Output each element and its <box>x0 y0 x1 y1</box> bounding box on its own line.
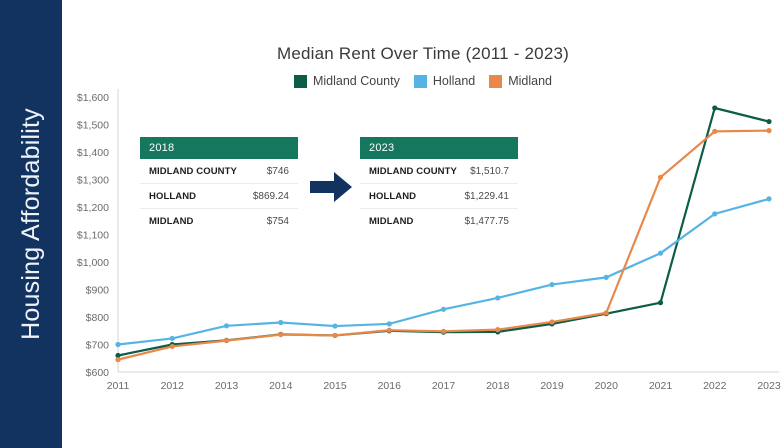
y-axis-tick-label: $1,100 <box>77 230 109 242</box>
data-point-marker[interactable] <box>712 211 717 216</box>
data-point-marker[interactable] <box>604 275 609 280</box>
data-point-marker[interactable] <box>766 119 771 124</box>
side-banner: Housing Affordability <box>0 0 62 448</box>
data-point-marker[interactable] <box>278 320 283 325</box>
data-point-marker[interactable] <box>766 196 771 201</box>
x-axis-tick-label: 2020 <box>595 380 619 392</box>
data-point-marker[interactable] <box>387 328 392 333</box>
y-axis-tick-label: $800 <box>86 312 110 324</box>
callout-row-value: $1,477.75 <box>465 216 510 227</box>
y-axis-tick-label: $1,200 <box>77 202 109 214</box>
data-point-marker[interactable] <box>766 128 771 133</box>
callout-row-value: $1,510.7 <box>470 166 509 177</box>
callout-row-label: MIDLAND <box>149 216 194 227</box>
callout-row: MIDLAND COUNTY$746 <box>140 159 298 184</box>
x-axis-tick-label: 2012 <box>161 380 185 392</box>
data-point-marker[interactable] <box>387 321 392 326</box>
data-point-marker[interactable] <box>549 282 554 287</box>
callout-year-header: 2023 <box>360 137 518 159</box>
data-point-marker[interactable] <box>170 336 175 341</box>
data-point-marker[interactable] <box>658 251 663 256</box>
data-point-marker[interactable] <box>495 295 500 300</box>
data-point-marker[interactable] <box>224 338 229 343</box>
x-axis-tick-label: 2022 <box>703 380 727 392</box>
callout-row: MIDLAND$1,477.75 <box>360 209 518 233</box>
x-axis-tick-label: 2021 <box>649 380 673 392</box>
callout-row: HOLLAND$869.24 <box>140 184 298 209</box>
callout-row-label: MIDLAND <box>369 216 414 227</box>
data-point-marker[interactable] <box>115 342 120 347</box>
callout-row-value: $869.24 <box>253 191 289 202</box>
callout-row: MIDLAND COUNTY$1,510.7 <box>360 159 518 184</box>
x-axis-tick-label: 2014 <box>269 380 293 392</box>
callout-row-label: HOLLAND <box>149 191 196 202</box>
y-axis-tick-label: $1,300 <box>77 175 109 187</box>
data-point-marker[interactable] <box>278 332 283 337</box>
y-axis-tick-label: $700 <box>86 340 110 352</box>
data-point-marker[interactable] <box>495 327 500 332</box>
data-point-marker[interactable] <box>658 300 663 305</box>
x-axis-tick-label: 2013 <box>215 380 239 392</box>
callout-row-label: MIDLAND COUNTY <box>369 166 457 177</box>
x-axis-tick-label: 2015 <box>323 380 347 392</box>
y-axis-tick-label: $1,000 <box>77 257 109 269</box>
data-point-marker[interactable] <box>712 129 717 134</box>
data-point-marker[interactable] <box>224 323 229 328</box>
y-axis-tick-label: $1,400 <box>77 147 109 159</box>
callout-row-value: $746 <box>267 166 289 177</box>
x-axis-tick-label: 2011 <box>107 380 130 392</box>
side-banner-label: Housing Affordability <box>0 0 62 448</box>
x-axis-tick-label: 2016 <box>378 380 402 392</box>
right-arrow-icon <box>308 170 354 204</box>
data-point-marker[interactable] <box>115 357 120 362</box>
data-point-marker[interactable] <box>549 319 554 324</box>
y-axis-tick-label: $1,500 <box>77 120 109 132</box>
callout-year-header: 2018 <box>140 137 298 159</box>
x-axis-tick-label: 2019 <box>540 380 564 392</box>
y-axis-tick-label: $1,600 <box>77 92 109 104</box>
x-axis-tick-label: 2017 <box>432 380 456 392</box>
data-point-marker[interactable] <box>658 175 663 180</box>
data-point-marker[interactable] <box>332 333 337 338</box>
x-axis-tick-label: 2023 <box>757 380 781 392</box>
data-point-marker[interactable] <box>441 307 446 312</box>
chart-panel: Median Rent Over Time (2011 - 2023) Midl… <box>62 0 784 448</box>
callout-table-2023: 2023MIDLAND COUNTY$1,510.7HOLLAND$1,229.… <box>360 137 518 233</box>
callout-row-label: HOLLAND <box>369 191 416 202</box>
data-point-marker[interactable] <box>441 329 446 334</box>
data-point-marker[interactable] <box>170 344 175 349</box>
callout-row: HOLLAND$1,229.41 <box>360 184 518 209</box>
data-point-marker[interactable] <box>712 105 717 110</box>
y-axis-tick-label: $900 <box>86 285 110 297</box>
callout-row-value: $1,229.41 <box>465 191 510 202</box>
x-axis-tick-label: 2018 <box>486 380 510 392</box>
data-point-marker[interactable] <box>604 310 609 315</box>
callout-table-2018: 2018MIDLAND COUNTY$746HOLLAND$869.24MIDL… <box>140 137 298 233</box>
callout-row-value: $754 <box>267 216 289 227</box>
data-point-marker[interactable] <box>332 323 337 328</box>
callout-row-label: MIDLAND COUNTY <box>149 166 237 177</box>
y-axis-tick-label: $600 <box>86 367 110 379</box>
callout-row: MIDLAND$754 <box>140 209 298 233</box>
